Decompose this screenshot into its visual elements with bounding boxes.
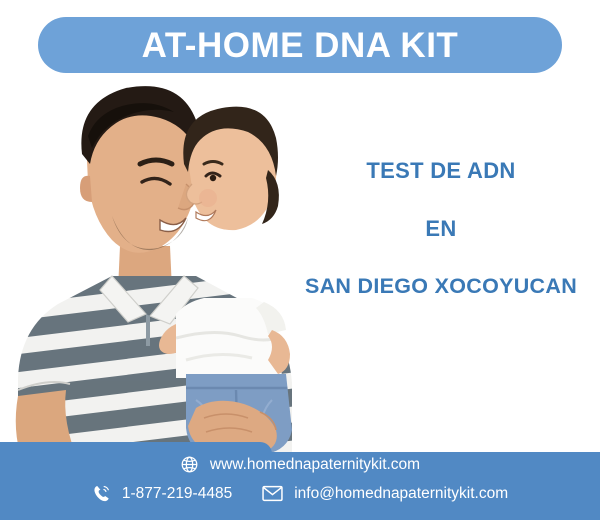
email-contact[interactable]: info@homednapaternitykit.com bbox=[262, 485, 508, 502]
envelope-icon bbox=[262, 485, 283, 502]
email-label: info@homednapaternitykit.com bbox=[294, 486, 508, 502]
footer-contact-info: www.homednapaternitykit.com 1-877-219-44… bbox=[0, 442, 600, 520]
headline-line-1: TEST DE ADN bbox=[282, 160, 600, 182]
title-banner: AT-HOME DNA KIT bbox=[38, 17, 562, 73]
phone-contact[interactable]: 1-877-219-4485 bbox=[92, 484, 232, 503]
footer-row-phone-email: 1-877-219-4485 info@homednapaternitykit.… bbox=[0, 484, 600, 503]
headline-line-3: SAN DIEGO XOCOYUCAN bbox=[282, 276, 600, 298]
headline-block: TEST DE ADN EN SAN DIEGO XOCOYUCAN bbox=[282, 160, 600, 298]
website-label: www.homednapaternitykit.com bbox=[210, 457, 420, 473]
poster-canvas: AT-HOME DNA KIT bbox=[0, 0, 600, 520]
website-contact[interactable]: www.homednapaternitykit.com bbox=[180, 455, 420, 474]
phone-icon bbox=[92, 484, 111, 503]
phone-label: 1-877-219-4485 bbox=[122, 486, 232, 502]
footer-row-website: www.homednapaternitykit.com bbox=[0, 455, 600, 474]
headline-line-2: EN bbox=[282, 218, 600, 240]
globe-icon bbox=[180, 455, 199, 474]
page-title: AT-HOME DNA KIT bbox=[142, 28, 459, 63]
